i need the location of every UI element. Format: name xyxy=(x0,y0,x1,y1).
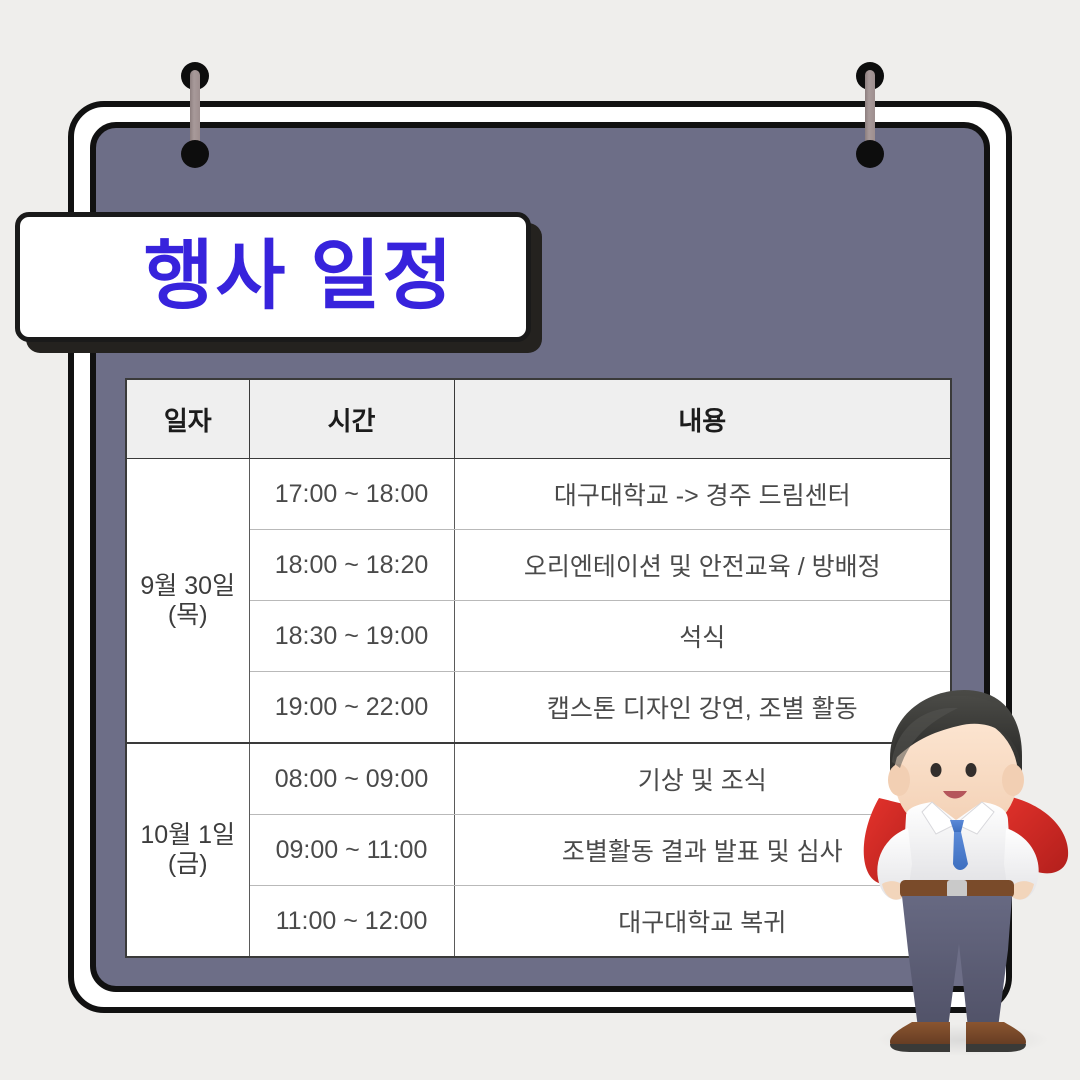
schedule-table: 일자 시간 내용 9월 30일 (목) 17:00 ~ 18:00 대구대학교 … xyxy=(125,378,952,958)
time-cell: 08:00 ~ 09:00 xyxy=(249,743,454,815)
column-header-content: 내용 xyxy=(454,379,951,459)
time-cell: 11:00 ~ 12:00 xyxy=(249,886,454,958)
schedule-table-wrap: 일자 시간 내용 9월 30일 (목) 17:00 ~ 18:00 대구대학교 … xyxy=(125,378,950,942)
date-line-2: (목) xyxy=(127,601,249,630)
pin-cap-bottom xyxy=(181,140,209,168)
pin-right-icon xyxy=(850,62,890,172)
time-cell: 18:30 ~ 19:00 xyxy=(249,601,454,672)
date-cell-group-0: 9월 30일 (목) xyxy=(126,459,249,744)
date-cell-group-1: 10월 1일 (금) xyxy=(126,743,249,957)
pants xyxy=(902,896,1012,1028)
table-row: 10월 1일 (금) 08:00 ~ 09:00 기상 및 조식 xyxy=(126,743,951,815)
date-line-1: 9월 30일 xyxy=(140,572,235,600)
column-header-date: 일자 xyxy=(126,379,249,459)
content-cell: 오리엔테이션 및 안전교육 / 방배정 xyxy=(454,530,951,601)
shoe-sole-right xyxy=(966,1044,1026,1052)
time-cell: 18:00 ~ 18:20 xyxy=(249,530,454,601)
pin-cap-bottom xyxy=(856,140,884,168)
table-row: 9월 30일 (목) 17:00 ~ 18:00 대구대학교 -> 경주 드림센… xyxy=(126,459,951,530)
table-row: 09:00 ~ 11:00 조별활동 결과 발표 및 심사 xyxy=(126,815,951,886)
time-cell: 17:00 ~ 18:00 xyxy=(249,459,454,530)
time-cell: 09:00 ~ 11:00 xyxy=(249,815,454,886)
ear-left xyxy=(888,764,910,796)
table-row: 18:00 ~ 18:20 오리엔테이션 및 안전교육 / 방배정 xyxy=(126,530,951,601)
table-row: 19:00 ~ 22:00 캡스톤 디자인 강연, 조별 활동 xyxy=(126,672,951,744)
schedule-table-body: 9월 30일 (목) 17:00 ~ 18:00 대구대학교 -> 경주 드림센… xyxy=(126,459,951,958)
poster-root: 행사 일정 일자 시간 내용 9월 30일 xyxy=(0,0,1080,1080)
pin-left-icon xyxy=(175,62,215,172)
superhero-businessman-icon xyxy=(846,688,1080,1080)
column-header-time: 시간 xyxy=(249,379,454,459)
page-title: 행사 일정 xyxy=(92,239,455,315)
eye-left xyxy=(931,763,942,777)
table-row: 18:30 ~ 19:00 석식 xyxy=(126,601,951,672)
shoe-sole-left xyxy=(890,1044,950,1052)
date-line-2: (금) xyxy=(127,850,249,879)
time-cell: 19:00 ~ 22:00 xyxy=(249,672,454,744)
eye-right xyxy=(966,763,977,777)
title-card: 행사 일정 xyxy=(15,212,531,342)
belt-buckle xyxy=(947,880,967,898)
ear-right xyxy=(1002,764,1024,796)
table-row: 11:00 ~ 12:00 대구대학교 복귀 xyxy=(126,886,951,958)
table-header-row: 일자 시간 내용 xyxy=(126,379,951,459)
content-cell: 대구대학교 -> 경주 드림센터 xyxy=(454,459,951,530)
content-cell: 석식 xyxy=(454,601,951,672)
date-line-1: 10월 1일 xyxy=(140,821,235,849)
